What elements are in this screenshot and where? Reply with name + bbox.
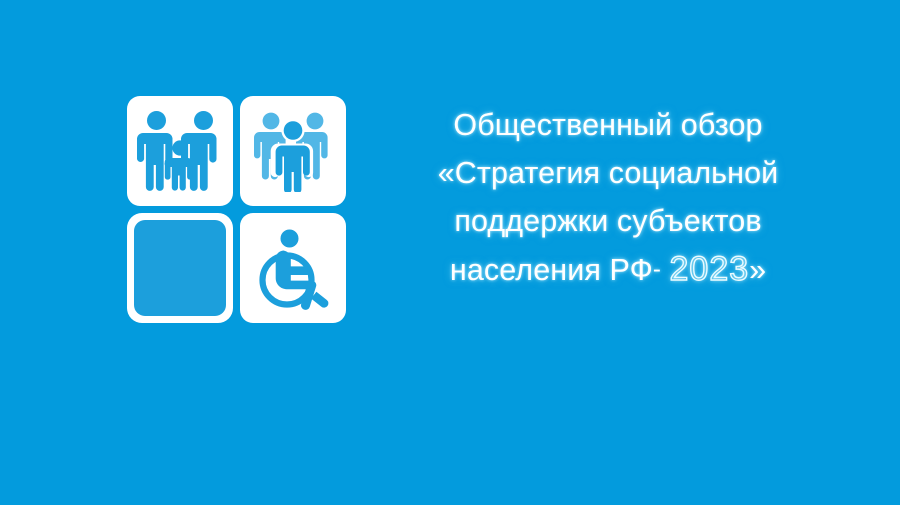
tile-accessibility — [240, 213, 346, 323]
family-icon — [137, 109, 223, 193]
wheelchair-icon — [251, 226, 335, 310]
icon-grid — [127, 96, 346, 323]
headline-line-1: Общественный обзор — [398, 101, 818, 149]
headline-year: 2023 — [670, 250, 750, 288]
tile-group-people — [240, 96, 346, 206]
headline-dash: - — [653, 256, 661, 283]
headline-close-quote: » — [749, 253, 766, 287]
headline-line-4-prefix: населения РФ — [450, 253, 653, 287]
headline-line-3: поддержки субъектов — [398, 197, 818, 245]
slide-canvas: Общественный обзор «Стратегия социальной… — [0, 0, 900, 505]
tile-blank-frame — [127, 213, 233, 323]
blank-frame-icon — [134, 220, 226, 316]
group-people-icon — [251, 110, 335, 192]
headline-line-2: «Стратегия социальной — [398, 149, 818, 197]
tile-family — [127, 96, 233, 206]
headline-line-4: населения РФ- 2023» — [398, 245, 818, 294]
headline-block: Общественный обзор «Стратегия социальной… — [398, 101, 818, 294]
